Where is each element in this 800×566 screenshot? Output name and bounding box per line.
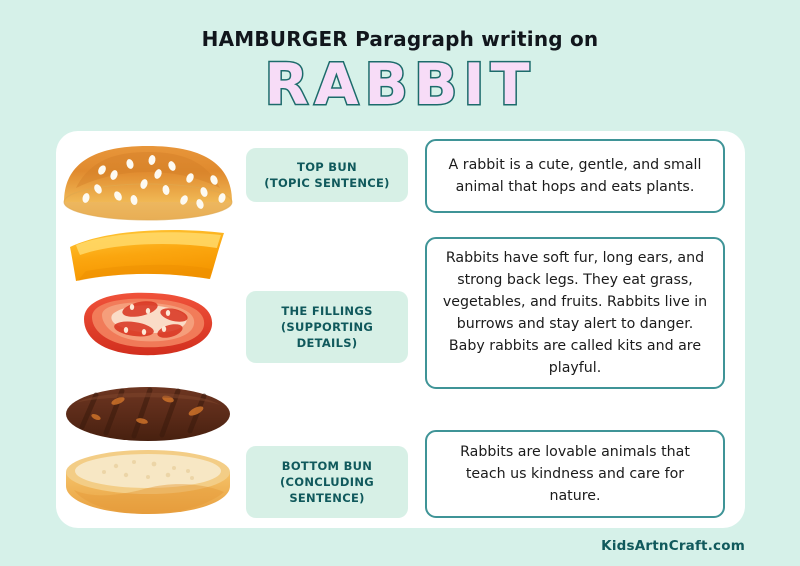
tomato-slice-icon bbox=[56, 285, 241, 365]
label-bottom-bun-line2: (CONCLUDING bbox=[280, 474, 374, 490]
header-kicker: HAMBURGER Paragraph writing on bbox=[0, 27, 800, 51]
paragraph-topic-sentence: A rabbit is a cute, gentle, and small an… bbox=[425, 139, 725, 213]
cheese-slice-icon bbox=[56, 227, 241, 285]
label-top-bun: TOP BUN (TOPIC SENTENCE) bbox=[246, 148, 408, 202]
label-fillings-line2: (SUPPORTING bbox=[281, 319, 373, 335]
bottom-bun-icon bbox=[56, 444, 241, 520]
page-header: HAMBURGER Paragraph writing on RABBIT bbox=[0, 0, 800, 115]
paragraph-topic-sentence-text: A rabbit is a cute, gentle, and small an… bbox=[439, 154, 711, 198]
paragraph-concluding-sentence: Rabbits are lovable animals that teach u… bbox=[425, 430, 725, 518]
hamburger-illustration bbox=[56, 131, 241, 528]
top-bun-icon bbox=[56, 140, 241, 228]
paragraph-supporting-details-text: Rabbits have soft fur, long ears, and st… bbox=[439, 247, 711, 379]
paragraph-supporting-details: Rabbits have soft fur, long ears, and st… bbox=[425, 237, 725, 389]
label-bottom-bun: BOTTOM BUN (CONCLUDING SENTENCE) bbox=[246, 446, 408, 518]
label-bottom-bun-line1: BOTTOM BUN bbox=[280, 458, 374, 474]
paragraph-concluding-sentence-text: Rabbits are lovable animals that teach u… bbox=[439, 441, 711, 507]
label-bottom-bun-line3: SENTENCE) bbox=[280, 490, 374, 506]
label-fillings: THE FILLINGS (SUPPORTING DETAILS) bbox=[246, 291, 408, 363]
label-fillings-line3: DETAILS) bbox=[281, 335, 373, 351]
label-top-bun-line1: TOP BUN bbox=[264, 159, 389, 175]
label-top-bun-line2: (TOPIC SENTENCE) bbox=[264, 175, 389, 191]
label-fillings-line1: THE FILLINGS bbox=[281, 303, 373, 319]
meat-patty-icon bbox=[56, 381, 241, 447]
footer-watermark: KidsArtnCraft.com bbox=[601, 538, 745, 554]
page-title: RABBIT bbox=[0, 55, 800, 115]
